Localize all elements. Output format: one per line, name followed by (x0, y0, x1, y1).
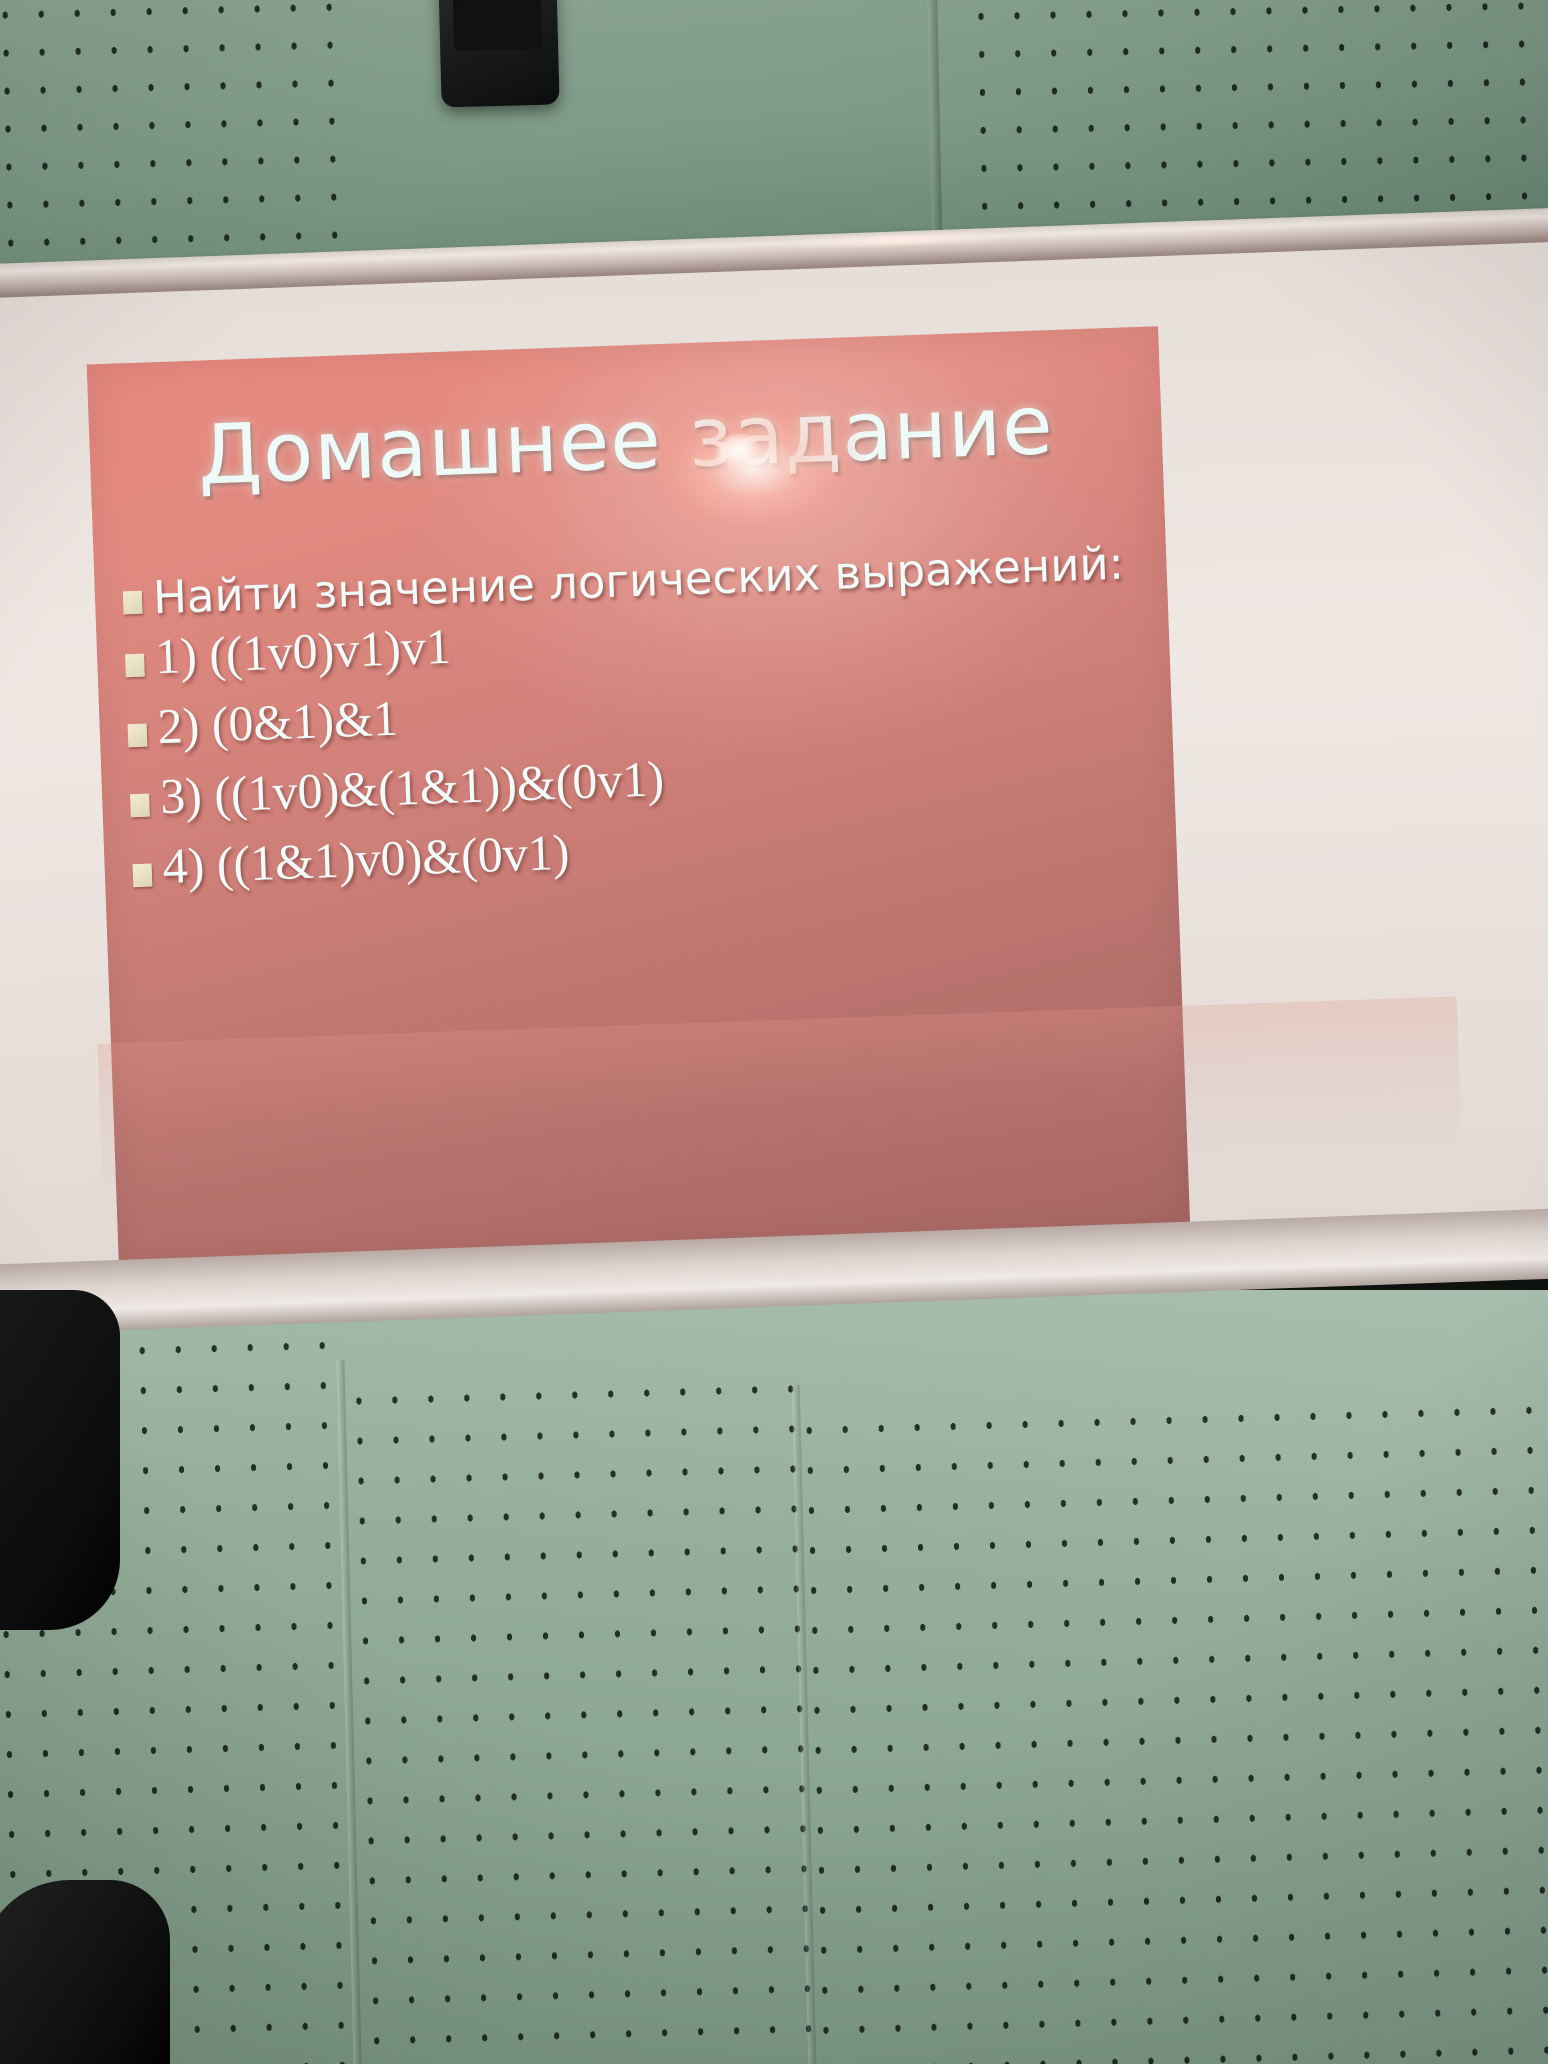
square-bullet-icon (133, 863, 153, 887)
slide-title: Домашнее задание (88, 374, 1163, 507)
perforated-panel-bottom-middle (340, 1369, 819, 2064)
square-bullet-icon (125, 653, 145, 677)
whiteboard-surface: Домашнее задание Найти значение логическ… (0, 241, 1548, 1309)
square-bullet-icon (128, 723, 148, 747)
square-bullet-icon (130, 793, 150, 817)
perforated-panel-top-left (0, 0, 363, 266)
list-item-label: 4) ((1&1)v0)&(0v1) (162, 824, 571, 893)
foreground-object-lower (0, 1880, 170, 2064)
projected-slide: Домашнее задание Найти значение логическ… (87, 326, 1191, 1269)
photo-scene: Домашнее задание Найти значение логическ… (0, 0, 1548, 2064)
ceiling-device-icon (438, 0, 559, 108)
list-item-label: 2) (0&1)&1 (157, 690, 399, 753)
foreground-object-upper (0, 1290, 120, 1630)
list-item-label: 1) ((1v0)v1)v1 (154, 618, 452, 683)
square-bullet-icon (123, 591, 143, 615)
whiteboard: Домашнее задание Найти значение логическ… (0, 207, 1548, 1355)
list-item-label: 3) ((1v0)&(1&1))&(0v1) (159, 751, 665, 823)
perforated-panel-bottom-right (791, 1389, 1548, 2064)
slide-bullet-list: Найти значение логических выражений: 1) … (122, 539, 1159, 910)
